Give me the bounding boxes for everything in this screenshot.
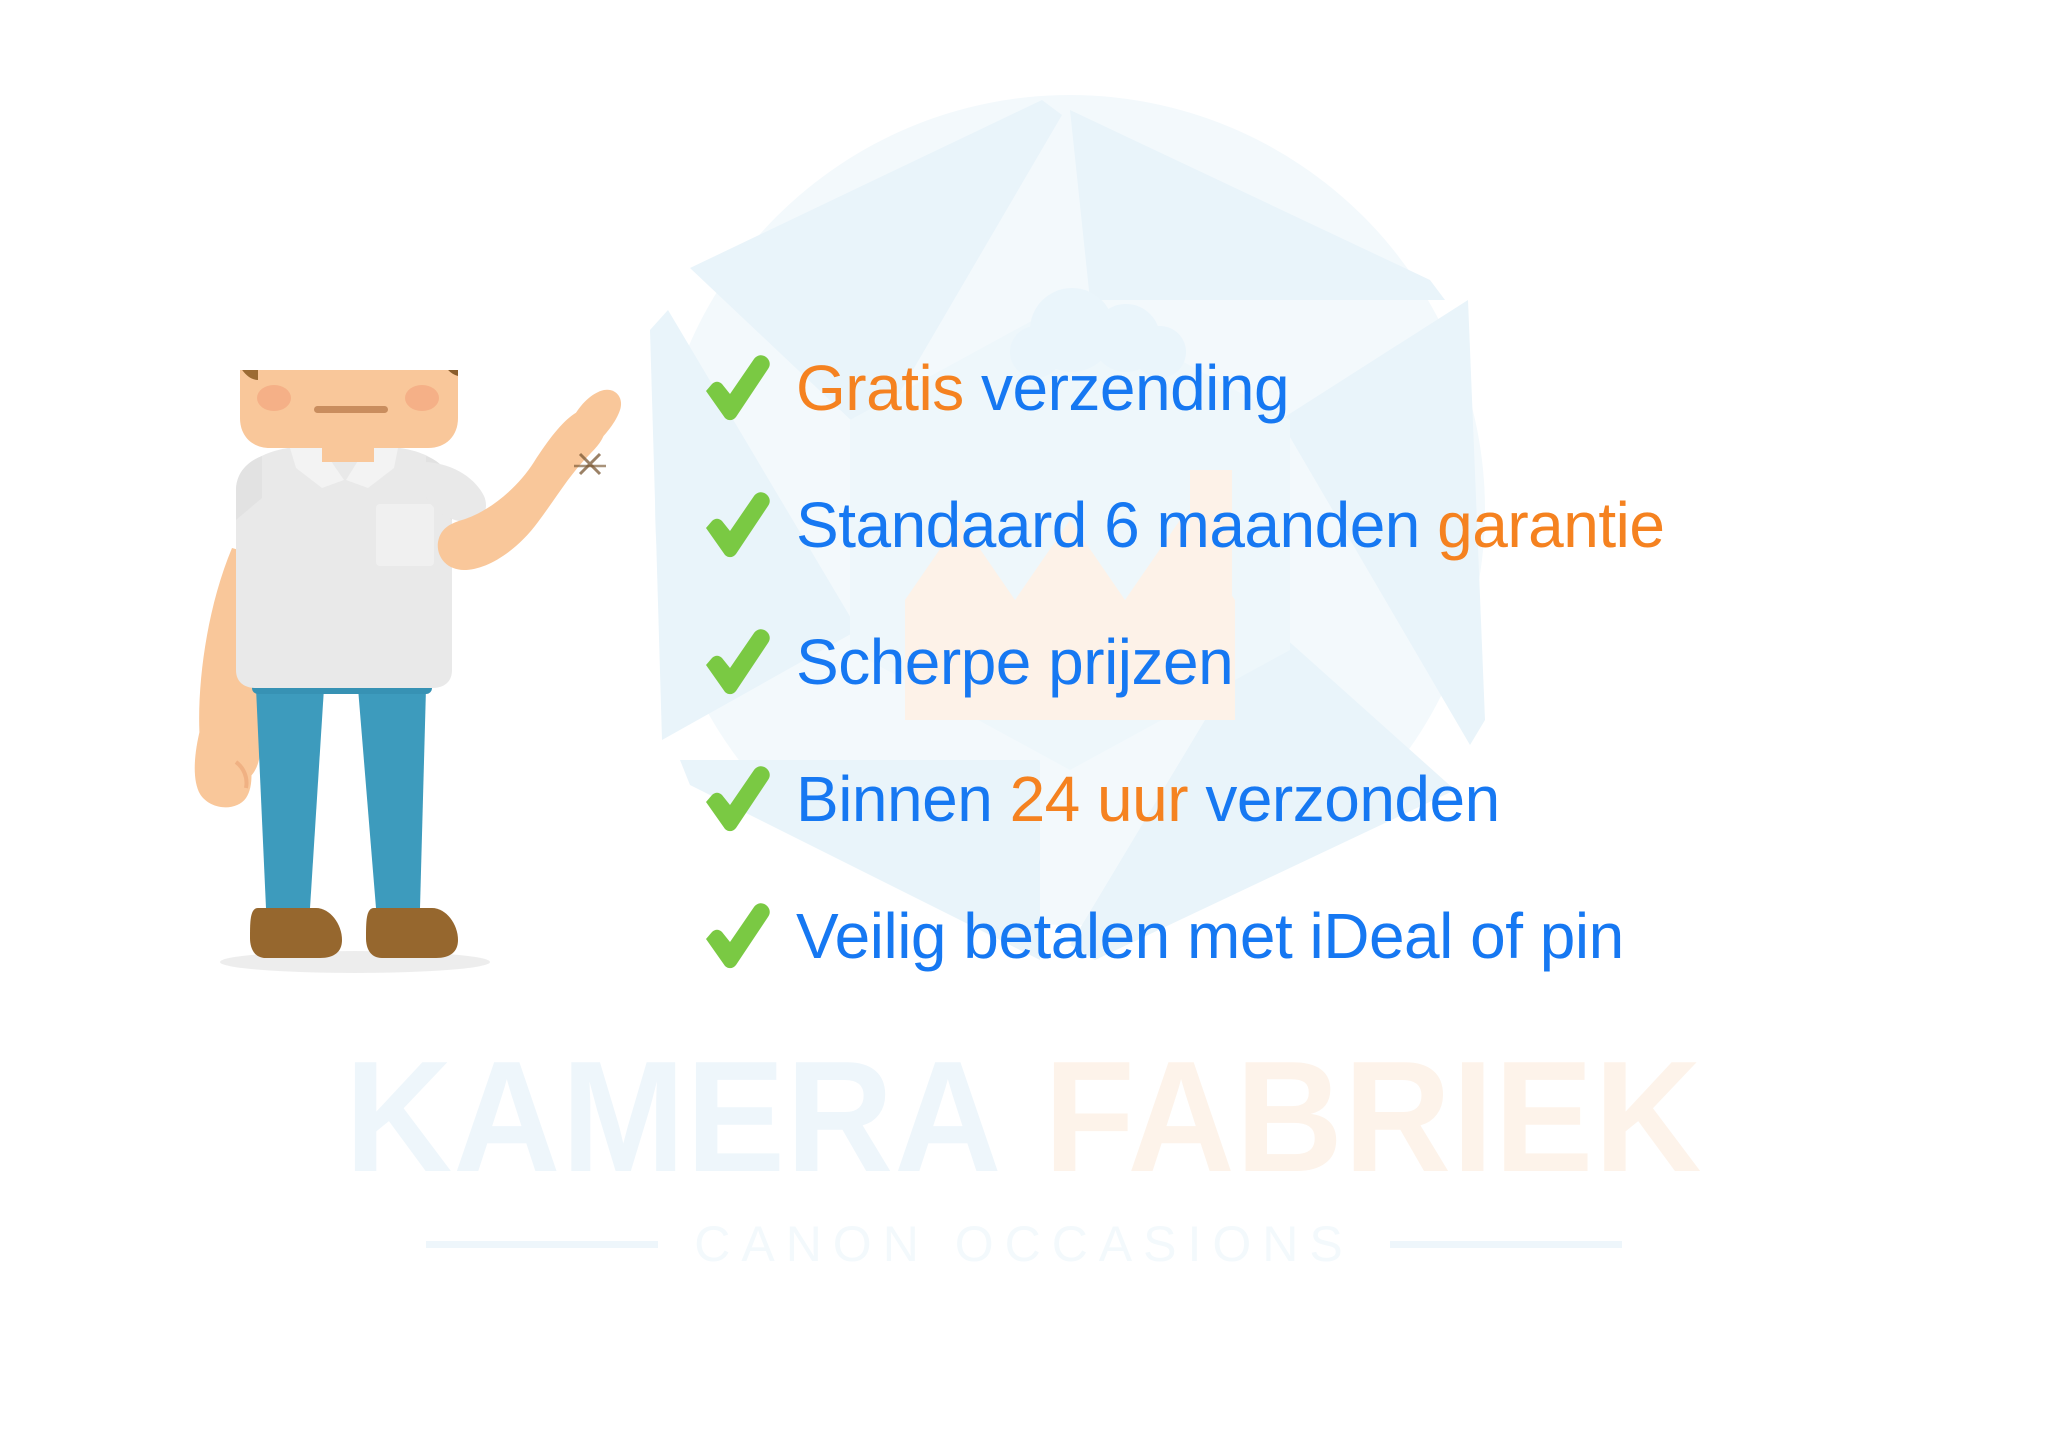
benefit-segment: Standaard 6 maanden — [796, 489, 1420, 561]
brand-watermark: KAMERAFABRIEK — [0, 1038, 2048, 1196]
pointing-man-character — [170, 370, 640, 990]
benefit-segment: garantie — [1420, 489, 1665, 561]
benefit-label: Scherpe prijzen — [796, 629, 1233, 696]
list-item: Standaard 6 maanden garantie — [700, 457, 1990, 594]
benefit-label: Gratis verzending — [796, 355, 1289, 422]
tagline-rule-left — [426, 1241, 658, 1248]
benefit-segment: Gratis — [796, 352, 964, 424]
benefit-label: Binnen 24 uur verzonden — [796, 766, 1500, 833]
list-item: Veilig betalen met iDeal of pin — [700, 868, 1990, 1005]
list-item: Binnen 24 uur verzonden — [700, 731, 1990, 868]
brand-word-kamera: KAMERA — [345, 1038, 1002, 1196]
character-shoes — [250, 908, 458, 958]
character-head — [228, 370, 458, 462]
benefit-segment: Scherpe prijzen — [796, 626, 1233, 698]
benefit-segment: 24 uur — [1010, 763, 1188, 835]
benefits-list: Gratis verzending Standaard 6 maanden ga… — [700, 320, 1990, 1005]
benefit-segment: verzonden — [1188, 763, 1500, 835]
benefit-label: Veilig betalen met iDeal of pin — [796, 903, 1624, 970]
check-icon — [700, 627, 796, 699]
check-icon — [700, 901, 796, 973]
check-icon — [700, 353, 796, 425]
benefit-segment: Veilig betalen met iDeal of pin — [796, 900, 1624, 972]
brand-word-fabriek: FABRIEK — [1044, 1038, 1702, 1196]
list-item: Gratis verzending — [700, 320, 1990, 457]
brand-tagline-row: CANON OCCASIONS — [0, 1215, 2048, 1273]
benefit-label: Standaard 6 maanden garantie — [796, 492, 1664, 559]
check-icon — [700, 490, 796, 562]
benefit-segment: verzending — [964, 352, 1289, 424]
character-shirt — [236, 448, 452, 688]
benefit-segment: Binnen — [796, 763, 1010, 835]
list-item: Scherpe prijzen — [700, 594, 1990, 731]
check-icon — [700, 764, 796, 836]
promo-banner: Gratis verzending Standaard 6 maanden ga… — [0, 0, 2048, 1444]
tagline-rule-right — [1390, 1241, 1622, 1248]
character-jeans — [252, 676, 432, 908]
brand-tagline: CANON OCCASIONS — [694, 1215, 1354, 1273]
